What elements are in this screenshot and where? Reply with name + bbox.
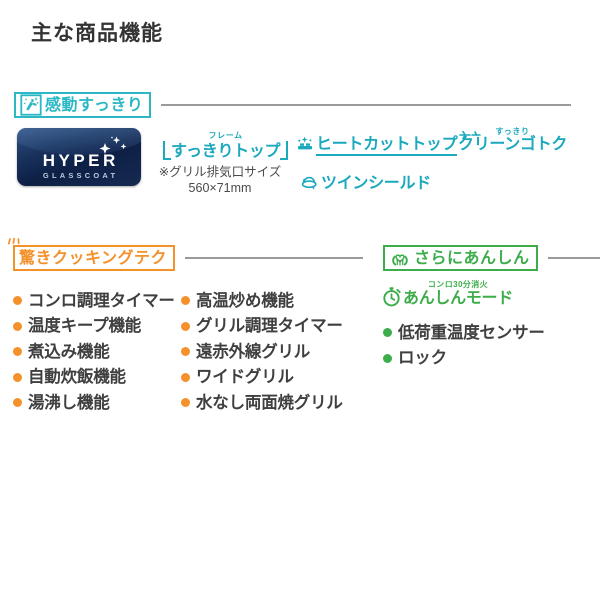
section-badge-safety: さらにあんしん xyxy=(383,245,538,271)
section-header-cooking: 驚きクッキングテク xyxy=(13,245,363,271)
heart-in-hands-icon xyxy=(389,247,411,269)
list-item: 湯沸し機能 xyxy=(13,390,175,416)
safety-feature-list: 低荷重温度センサー ロック xyxy=(383,320,545,371)
list-item-label: グリル調理タイマー xyxy=(196,318,343,335)
bullet-dot-icon xyxy=(13,347,22,356)
bullet-dot-icon xyxy=(383,354,392,363)
stopwatch-icon xyxy=(381,286,402,307)
list-item-label: 遠赤外線グリル xyxy=(196,344,310,361)
list-item: コンロ調理タイマー xyxy=(13,288,175,314)
list-item: 高温炒め機能 xyxy=(181,288,343,314)
list-item-label: 煮込み機能 xyxy=(28,344,110,361)
section-badge-clean: 感動すっきり xyxy=(14,92,151,118)
bullet-dot-icon xyxy=(181,347,190,356)
section-rule-cooking xyxy=(185,257,363,259)
section-label-safety: さらにあんしん xyxy=(414,251,530,267)
list-item: ロック xyxy=(383,346,545,372)
product-features-page: 主な商品機能 感動すっきり HYPER GLASS xyxy=(0,0,600,600)
bullet-dot-icon xyxy=(181,373,190,382)
anshin-mode-text-block: コンロ30分消火 あんしんモード xyxy=(403,281,513,307)
feature-heat-cut-top-label: ヒートカットトップ xyxy=(316,137,457,156)
cooking-feature-list-right: 高温炒め機能 グリル調理タイマー 遠赤外線グリル ワイドグリル 水なし両面焼グリ… xyxy=(181,288,343,416)
section-badge-cooking: 驚きクッキングテク xyxy=(13,245,175,271)
anshin-mode-feature: コンロ30分消火 あんしんモード xyxy=(381,281,513,307)
clean-gotoku-icon xyxy=(458,129,492,141)
list-item: グリル調理タイマー xyxy=(181,314,343,340)
section-label-cooking: 驚きクッキングテク xyxy=(19,251,167,267)
anshin-mode-ruby: コンロ30分消火 xyxy=(403,281,513,289)
hyper-badge-name: HYPER xyxy=(17,152,141,169)
list-item-label: コンロ調理タイマー xyxy=(28,293,175,310)
list-item: 遠赤外線グリル xyxy=(181,339,343,365)
section-header-safety: さらにあんしん xyxy=(383,245,600,271)
feature-sukkiri-top: フレーム すっきりトップ xyxy=(163,132,288,165)
grill-vent-note: ※グリル排気口サイズ 560×71mm xyxy=(155,165,285,196)
list-item-label: 高温炒め機能 xyxy=(196,293,294,310)
feature-heat-cut-top: ヒートカットトップ xyxy=(296,136,457,156)
feature-clean-gotoku: すっきり クリーンゴトク xyxy=(458,128,567,154)
bullet-dot-icon xyxy=(181,398,190,407)
anshin-mode-label: あんしんモード xyxy=(403,291,513,307)
cooking-feature-list-left: コンロ調理タイマー 温度キープ機能 煮込み機能 自動炊飯機能 湯沸し機能 xyxy=(13,288,175,416)
feature-twin-shield-label: ツインシールド xyxy=(321,176,431,192)
list-item-label: ロック xyxy=(398,350,447,367)
section-rule-clean xyxy=(161,104,571,106)
list-item: 低荷重温度センサー xyxy=(383,320,545,346)
list-item: 水なし両面焼グリル xyxy=(181,390,343,416)
feature-sukkiri-top-ruby: フレーム xyxy=(163,132,288,140)
bullet-dot-icon xyxy=(383,328,392,337)
grill-vent-note-line1: ※グリル排気口サイズ xyxy=(155,165,285,181)
grill-vent-note-line2: 560×71mm xyxy=(155,181,285,197)
section-label-clean: 感動すっきり xyxy=(45,98,143,114)
list-item-label: 水なし両面焼グリル xyxy=(196,395,343,412)
bullet-dot-icon xyxy=(13,373,22,382)
bullet-dot-icon xyxy=(181,296,190,305)
section-rule-safety xyxy=(548,257,600,259)
list-item-label: 温度キープ機能 xyxy=(28,318,141,335)
bullet-dot-icon xyxy=(13,322,22,331)
bracket-right xyxy=(280,141,288,160)
list-item-label: 自動炊飯機能 xyxy=(28,369,126,386)
twin-shield-icon xyxy=(300,175,319,192)
page-title: 主な商品機能 xyxy=(31,17,163,47)
sparkle-cleaning-icon xyxy=(20,94,42,116)
bracket-frame-icon: すっきりトップ xyxy=(163,141,288,160)
list-item: 温度キープ機能 xyxy=(13,314,175,340)
list-item: 自動炊飯機能 xyxy=(13,365,175,391)
feature-sukkiri-top-label: すっきりトップ xyxy=(171,144,280,160)
list-item-label: 湯沸し機能 xyxy=(28,395,110,412)
feature-twin-shield: ツインシールド xyxy=(300,175,431,193)
hyper-badge-sub: GLASSCOAT xyxy=(17,172,141,180)
list-item: 煮込み機能 xyxy=(13,339,175,365)
section-header-clean: 感動すっきり xyxy=(14,92,571,118)
bullet-dot-icon xyxy=(181,322,190,331)
bracket-left xyxy=(163,141,171,160)
bullet-dot-icon xyxy=(13,296,22,305)
list-item-label: ワイドグリル xyxy=(196,369,294,386)
hyper-glasscoat-badge: HYPER GLASSCOAT xyxy=(17,128,141,186)
heat-cut-top-icon xyxy=(296,136,314,153)
bullet-dot-icon xyxy=(13,398,22,407)
list-item: ワイドグリル xyxy=(181,365,343,391)
list-item-label: 低荷重温度センサー xyxy=(398,325,545,342)
